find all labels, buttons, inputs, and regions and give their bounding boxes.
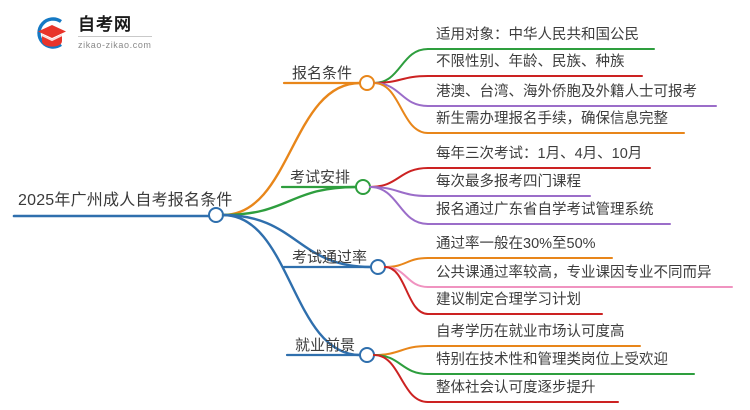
- logo-site-name: 自考网: [78, 15, 152, 37]
- leaf-connector-0-1: [374, 76, 428, 83]
- branch-node-1[interactable]: [356, 180, 370, 194]
- leaf-connector-0-3: [374, 83, 428, 133]
- mindmap-canvas: 自考网 zikao-zikao.com 2025年广州成人自考报名条件报名条件适…: [0, 0, 750, 410]
- site-logo: 自考网 zikao-zikao.com: [30, 12, 200, 54]
- leaf-label-3-2: 整体社会认可度逐步提升: [436, 380, 596, 397]
- leaf-label-3-0: 自考学历在就业市场认可度高: [436, 324, 625, 341]
- leaf-connector-3-1: [374, 355, 428, 374]
- leaf-connector-0-2: [374, 83, 428, 106]
- leaf-label-0-0: 适用对象：中华人民共和国公民: [436, 27, 639, 44]
- leaf-label-2-0: 通过率一般在30%至50%: [436, 236, 596, 253]
- branch-node-0[interactable]: [360, 76, 374, 90]
- leaf-label-0-2: 港澳、台湾、海外侨胞及外籍人士可报考: [436, 84, 697, 101]
- leaf-label-1-0: 每年三次考试：1月、4月、10月: [436, 146, 642, 163]
- leaf-connector-3-0: [374, 346, 428, 355]
- leaf-label-2-1: 公共课通过率较高，专业课因专业不同而异: [436, 265, 712, 282]
- leaf-label-1-1: 每次最多报考四门课程: [436, 174, 581, 191]
- branch-label-1: 考试安排: [290, 169, 350, 186]
- leaf-connector-1-2: [370, 187, 428, 224]
- leaf-label-1-2: 报名通过广东省自学考试管理系统: [436, 202, 654, 219]
- branch-label-2: 考试通过率: [292, 249, 367, 266]
- leaf-label-3-1: 特别在技术性和管理类岗位上受欢迎: [436, 352, 668, 369]
- branch-node-2[interactable]: [371, 260, 385, 274]
- branch-label-0: 报名条件: [292, 65, 352, 82]
- logo-text: 自考网 zikao-zikao.com: [78, 15, 152, 52]
- branch-node-3[interactable]: [360, 348, 374, 362]
- logo-domain: zikao-zikao.com: [78, 37, 152, 52]
- leaf-connector-1-1: [370, 187, 428, 196]
- branch-connector-0: [223, 83, 360, 215]
- branch-label-3: 就业前景: [295, 337, 355, 354]
- leaf-connector-2-1: [385, 267, 428, 287]
- leaf-connector-1-0: [370, 168, 428, 187]
- leaf-label-2-2: 建议制定合理学习计划: [436, 292, 581, 309]
- branch-connector-3: [223, 215, 360, 355]
- leaf-connector-0-0: [374, 49, 428, 83]
- leaf-label-0-1: 不限性别、年龄、民族、种族: [436, 54, 625, 71]
- graduation-cap-logo-icon: [30, 13, 74, 53]
- leaf-connector-2-0: [385, 258, 428, 267]
- leaf-connector-3-2: [374, 355, 428, 402]
- leaf-label-0-3: 新生需办理报名手续，确保信息完整: [436, 111, 668, 128]
- branch-connector-1: [223, 187, 356, 215]
- leaf-connector-2-2: [385, 267, 428, 314]
- root-node-label: 2025年广州成人自考报名条件: [18, 192, 233, 210]
